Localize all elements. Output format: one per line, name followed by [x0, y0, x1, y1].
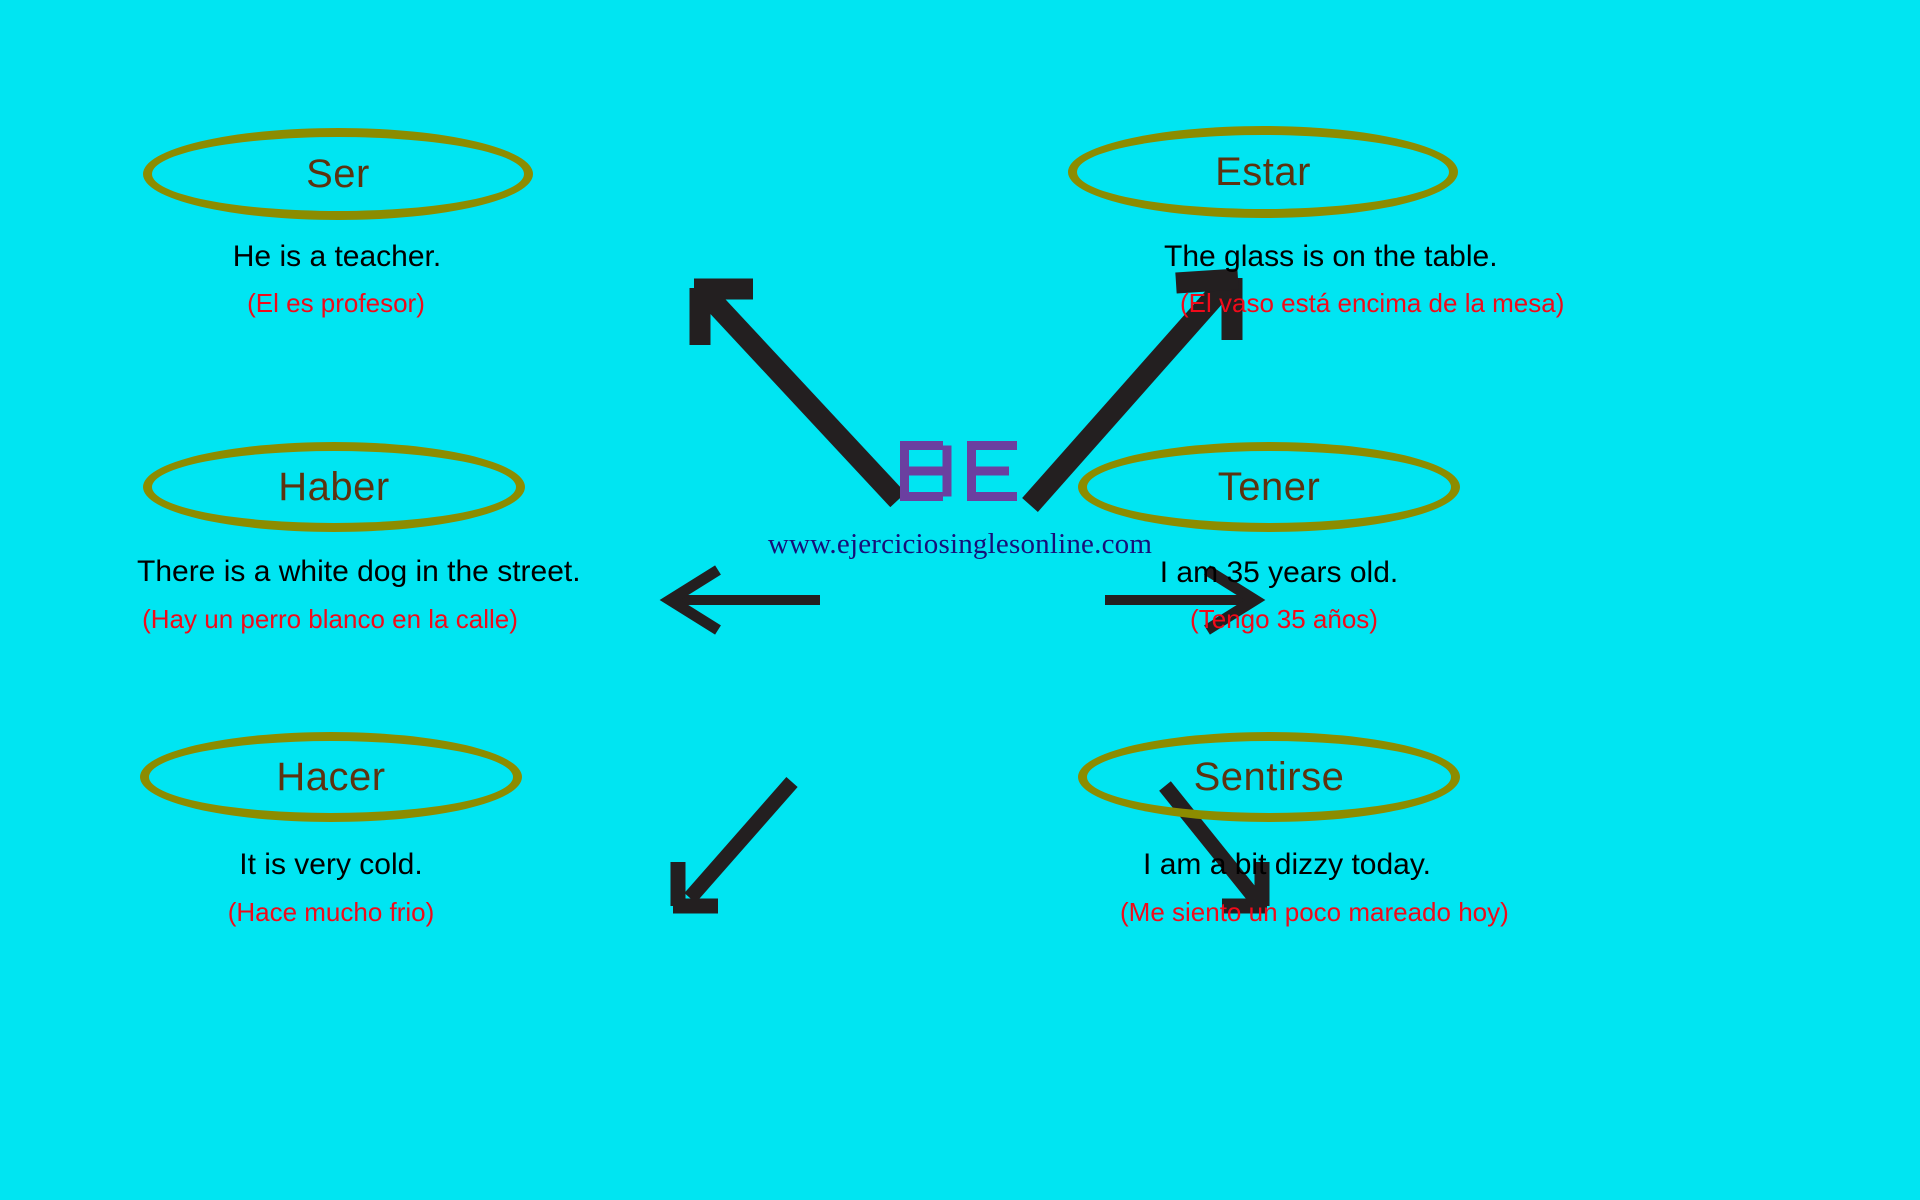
- node-estar[interactable]: Estar The glass is on the table. (El vas…: [1068, 126, 1458, 318]
- node-ser[interactable]: Ser He is a teacher. (El es profesor): [143, 128, 533, 318]
- be-logo-icon: [895, 440, 1025, 502]
- node-haber-ellipse[interactable]: Haber: [143, 442, 525, 532]
- node-estar-ellipse[interactable]: Estar: [1068, 126, 1458, 218]
- node-ser-spanish: (El es profesor): [139, 289, 533, 318]
- node-haber-title: Haber: [278, 467, 389, 507]
- node-sentirse-title: Sentirse: [1194, 757, 1345, 797]
- node-tener-spanish: (Tengo 35 años): [1108, 605, 1460, 634]
- node-sentirse-ellipse[interactable]: Sentirse: [1078, 732, 1460, 822]
- node-haber-spanish: (Hay un perro blanco en la calle): [135, 605, 525, 634]
- site-url: www.ejerciciosinglesonline.com: [620, 528, 1300, 561]
- node-hacer-spanish: (Hace mucho frio): [140, 898, 522, 927]
- arrow-to-hacer-icon: [673, 782, 792, 906]
- diagram-canvas: Ser He is a teacher. (El es profesor) Es…: [0, 0, 1920, 1200]
- node-haber[interactable]: Haber There is a white dog in the street…: [143, 442, 525, 634]
- node-hacer-english: It is very cold.: [140, 848, 522, 881]
- arrow-to-haber-icon: [670, 570, 820, 630]
- node-sentirse-spanish: (Me siento un poco mareado hoy): [1120, 898, 1460, 927]
- node-hacer[interactable]: Hacer It is very cold. (Hace mucho frio): [140, 732, 522, 927]
- node-ser-english: He is a teacher.: [141, 240, 533, 273]
- node-hacer-title: Hacer: [276, 757, 385, 797]
- center-block: www.ejerciciosinglesonline.com: [620, 440, 1300, 561]
- node-ser-title: Ser: [306, 154, 370, 194]
- node-sentirse[interactable]: Sentirse I am a bit dizzy today. (Me sie…: [1078, 732, 1460, 927]
- node-haber-english: There is a white dog in the street.: [137, 555, 525, 588]
- node-estar-spanish: (El vaso está encima de la mesa): [1180, 289, 1458, 318]
- node-hacer-ellipse[interactable]: Hacer: [140, 732, 522, 822]
- node-estar-title: Estar: [1215, 152, 1311, 192]
- node-sentirse-english: I am a bit dizzy today.: [1114, 848, 1460, 881]
- node-ser-ellipse[interactable]: Ser: [143, 128, 533, 220]
- node-estar-english: The glass is on the table.: [1164, 240, 1458, 273]
